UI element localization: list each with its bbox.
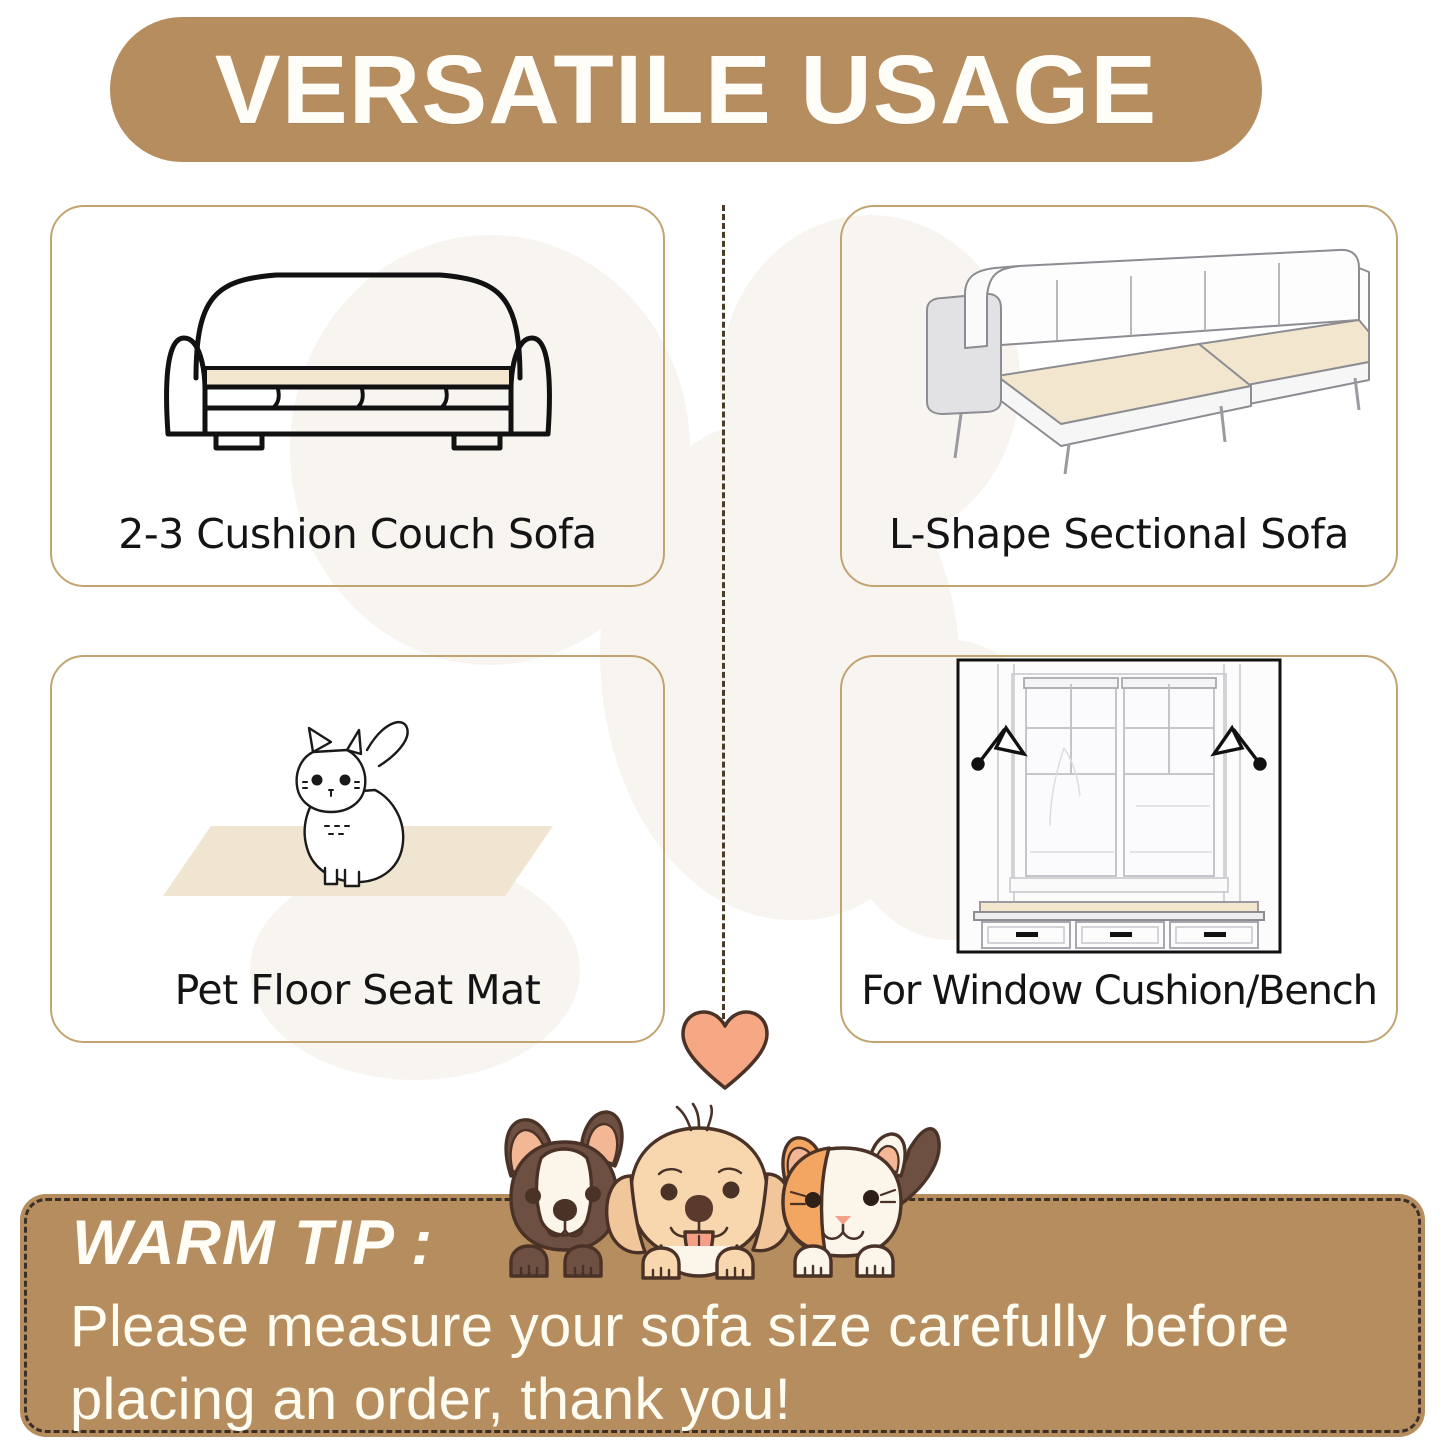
usage-card-window-bench[interactable]: For Window Cushion/Bench	[840, 655, 1398, 1043]
usage-card-label: Pet Floor Seat Mat	[175, 970, 541, 1011]
pets-group-icon	[495, 1080, 950, 1295]
french-bulldog-icon	[506, 1112, 622, 1276]
usage-card-pet-floor-mat[interactable]: Pet Floor Seat Mat	[50, 655, 665, 1043]
l-shape-sectional-icon	[869, 228, 1369, 478]
usage-card-label: 2-3 Cushion Couch Sofa	[118, 514, 596, 555]
usage-card-label: For Window Cushion/Bench	[861, 971, 1376, 1011]
header-banner: VERSATILE USAGE	[110, 17, 1262, 162]
warm-tip-line-2: placing an order, thank you!	[70, 1371, 791, 1429]
cat-on-mat-illustration	[52, 657, 663, 955]
l-shape-sectional-illustration	[842, 207, 1396, 499]
usage-card-couch-sofa[interactable]: 2-3 Cushion Couch Sofa	[50, 205, 665, 587]
warm-tip-line-1: Please measure your sofa size carefully …	[70, 1298, 1290, 1356]
calico-cat-icon	[783, 1129, 939, 1276]
page-title: VERSATILE USAGE	[215, 41, 1158, 138]
cat-shape	[296, 722, 407, 886]
couch-sofa-illustration	[52, 207, 663, 499]
couch-sofa-icon	[158, 256, 558, 451]
golden-retriever-icon	[607, 1104, 792, 1278]
window-bench-illustration	[842, 657, 1396, 955]
warm-tip-heading: WARM TIP :	[72, 1212, 433, 1275]
usage-card-label: L-Shape Sectional Sofa	[889, 514, 1349, 555]
vertical-dashed-divider	[722, 205, 725, 1028]
usage-card-l-shape-sectional[interactable]: L-Shape Sectional Sofa	[840, 205, 1398, 587]
cat-on-mat-icon	[123, 696, 593, 916]
window-bench-icon	[954, 656, 1284, 956]
